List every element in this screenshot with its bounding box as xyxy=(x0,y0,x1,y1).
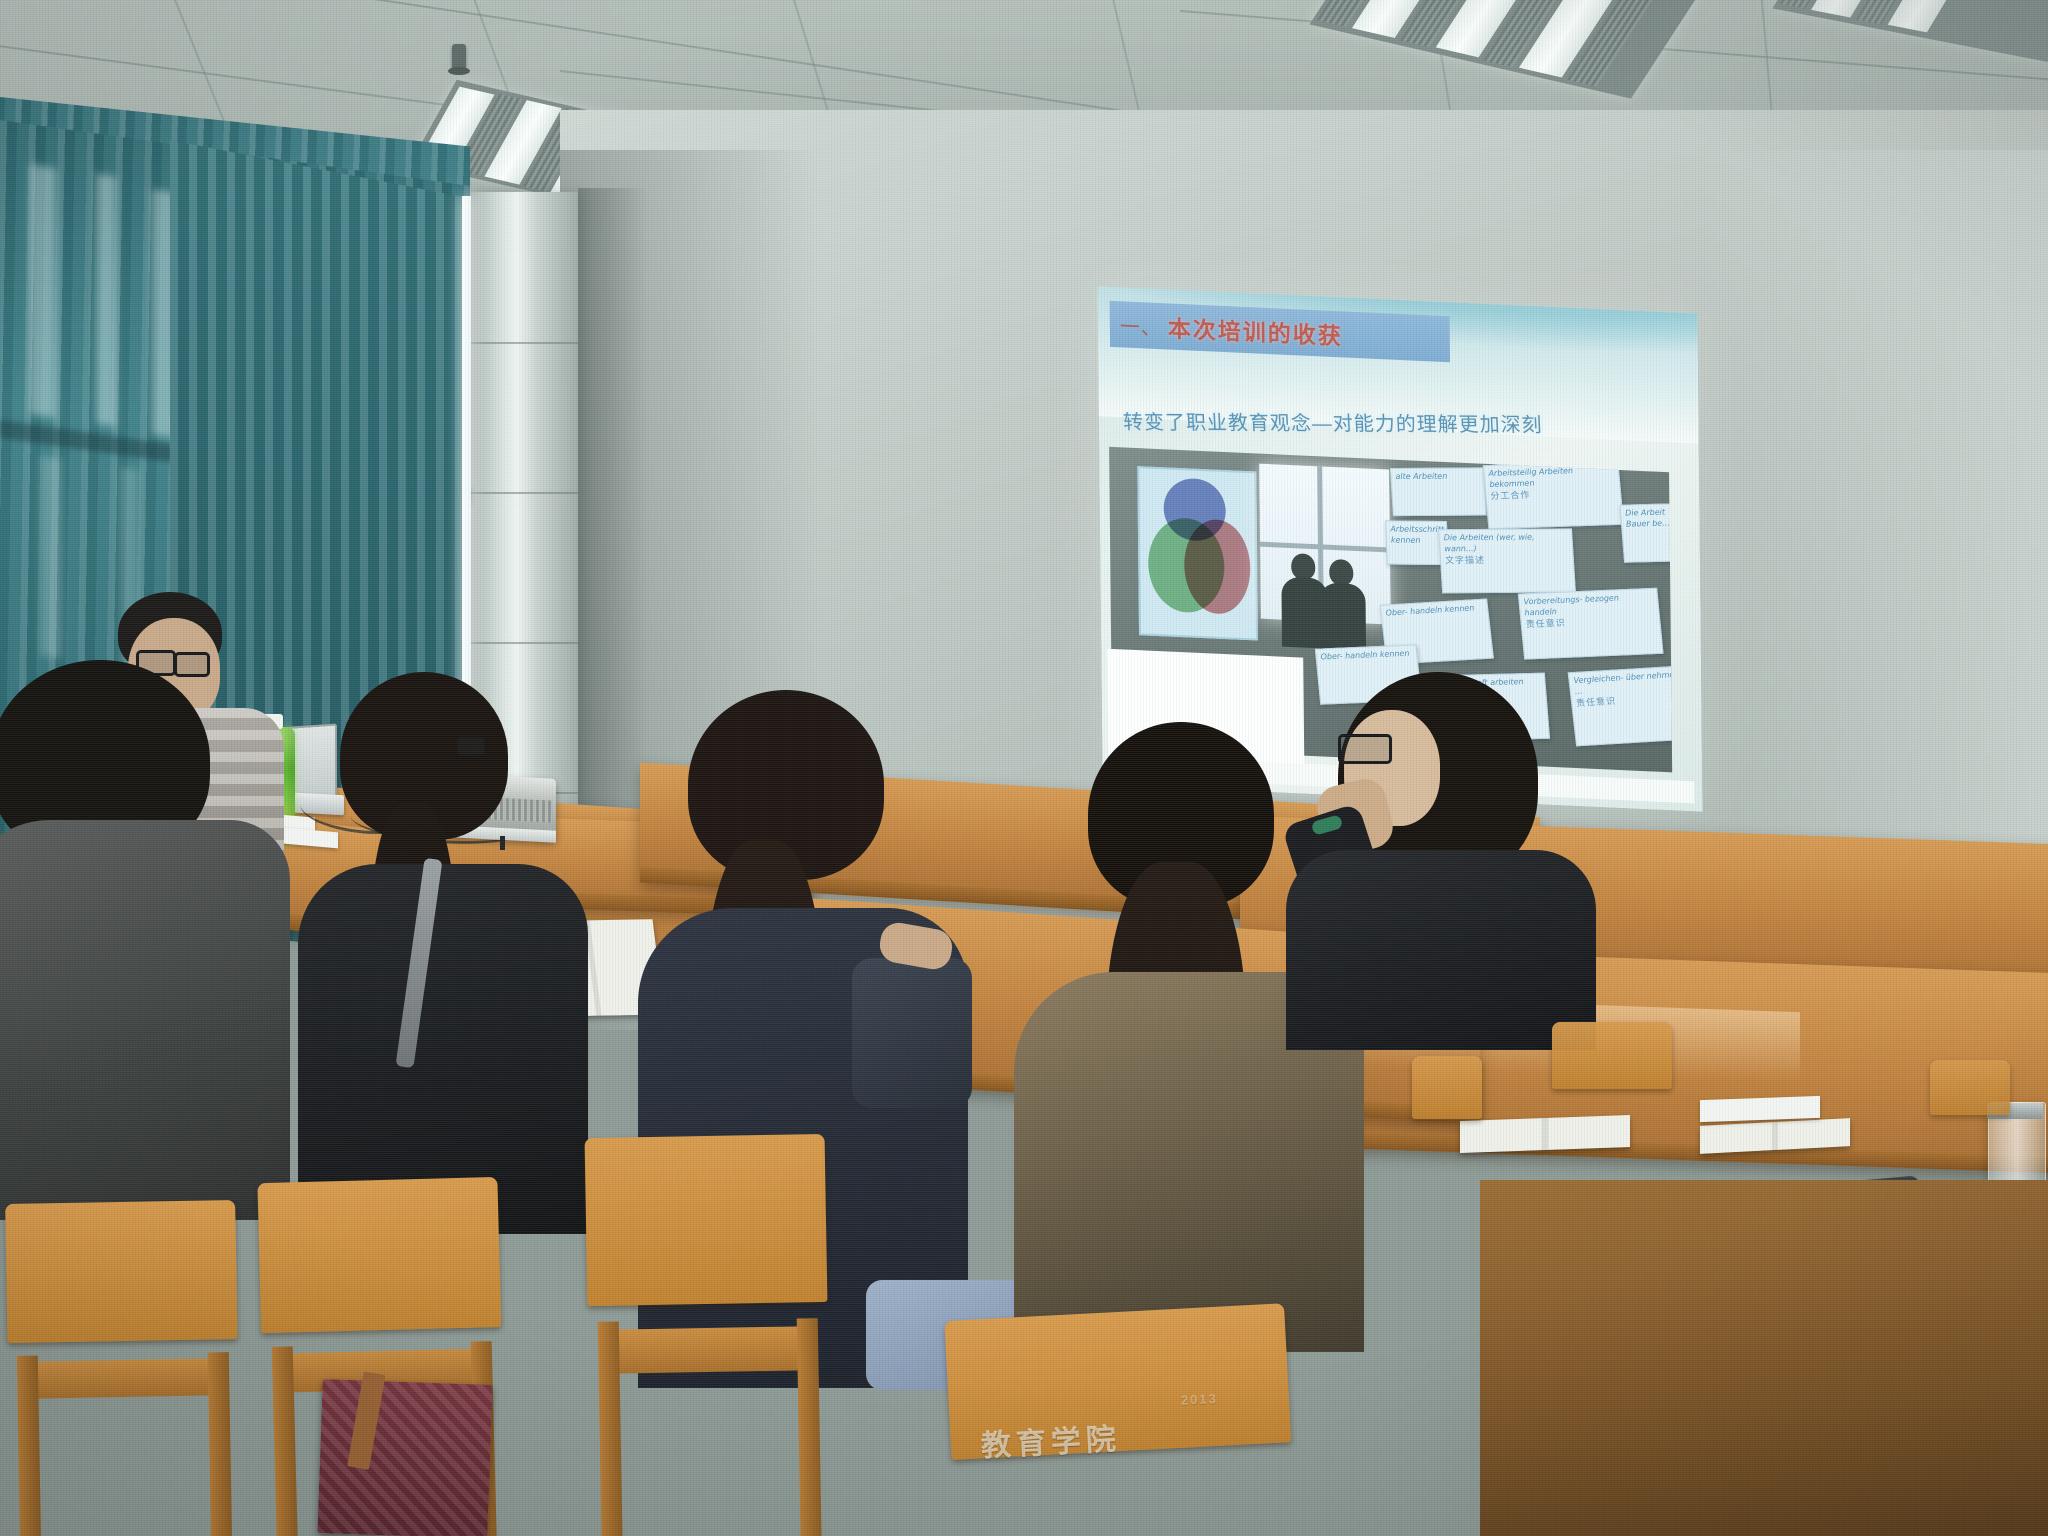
card-de-text: alte Arbeiten xyxy=(1395,471,1480,482)
torso xyxy=(1286,850,1596,1050)
chair-leg xyxy=(208,1352,232,1536)
attendee-woman-glasses-right xyxy=(1286,672,1606,1012)
venn-diagram-poster xyxy=(1137,466,1258,640)
attendee-ponytail-left xyxy=(292,672,592,1232)
paper-sheet xyxy=(1700,1096,1820,1122)
chair-back xyxy=(5,1200,237,1343)
chair-back xyxy=(1552,1022,1672,1089)
chair-right-empty xyxy=(1412,1056,1482,1206)
ceiling-light-far-right xyxy=(1772,0,2048,62)
glasses-icon xyxy=(1338,734,1392,764)
ceiling-light-right xyxy=(1309,0,1700,99)
chair-left-front xyxy=(5,1200,241,1534)
chair-leg xyxy=(597,1322,622,1536)
card-de-text: Ober- handeln kennen xyxy=(1320,649,1413,664)
chair-stencil-year: 2013 xyxy=(1180,1391,1218,1408)
card-de-text: Die Arbeiten (wer, wie, wann...) xyxy=(1443,532,1568,554)
moderation-card: Arbeitsteilig Arbeiten bekommen 分工合作 xyxy=(1483,461,1624,530)
moderation-card: alte Arbeiten xyxy=(1390,467,1487,516)
card-de-text: Ober- handeln kennen xyxy=(1385,603,1484,620)
chair-leg xyxy=(797,1318,822,1536)
chair-seat xyxy=(602,1326,814,1374)
chair-back xyxy=(257,1177,501,1333)
sprinkler-head xyxy=(452,44,466,70)
slide-section-number: 一、 xyxy=(1120,310,1162,341)
glasses-icon xyxy=(456,736,486,756)
chair-center-stencilled: 教育学院 2013 xyxy=(944,1303,1295,1536)
chair-behind-right-woman xyxy=(1552,1022,1672,1182)
chair-leg xyxy=(17,1355,41,1536)
photo-scene: 一、 本次培训的收获 转变了职业教育观念—对能力的理解更加深刻 xyxy=(0,0,2048,1536)
arm xyxy=(852,958,972,1108)
card-de-text: Arbeitsschritt kennen xyxy=(1390,524,1443,546)
slide-title: 本次培训的收获 xyxy=(1168,309,1343,351)
chair-stencil-text: 教育学院 xyxy=(980,1414,1122,1465)
handbag-strap xyxy=(347,1371,385,1469)
moderation-card: Die Arbeiten (wer, wie, wann...) 文字描述 xyxy=(1438,528,1576,593)
chair-seat xyxy=(22,1359,225,1399)
chair-back xyxy=(585,1134,828,1306)
chair-back xyxy=(1930,1060,2010,1115)
moderation-card: Vorbereitungs- bezogen handeln 责任意识 xyxy=(1518,588,1664,660)
card-cn-text: 文字描述 xyxy=(1445,554,1570,567)
chair-far-right-empty xyxy=(1930,1060,2010,1190)
moderation-card: Die Arbeit Bauer be... xyxy=(1619,503,1672,563)
chair-center xyxy=(585,1134,832,1536)
floor-foreground xyxy=(1480,1180,2048,1536)
card-de-text: Die Arbeit Bauer be... xyxy=(1625,507,1672,530)
photo-silhouettes xyxy=(1285,553,1386,653)
attendee-front-left xyxy=(0,660,310,1220)
torso xyxy=(0,820,290,1220)
handbag xyxy=(317,1379,492,1536)
chair-back xyxy=(1412,1056,1482,1119)
slide-subtitle: 转变了职业教育观念—对能力的理解更加深刻 xyxy=(1122,406,1663,439)
